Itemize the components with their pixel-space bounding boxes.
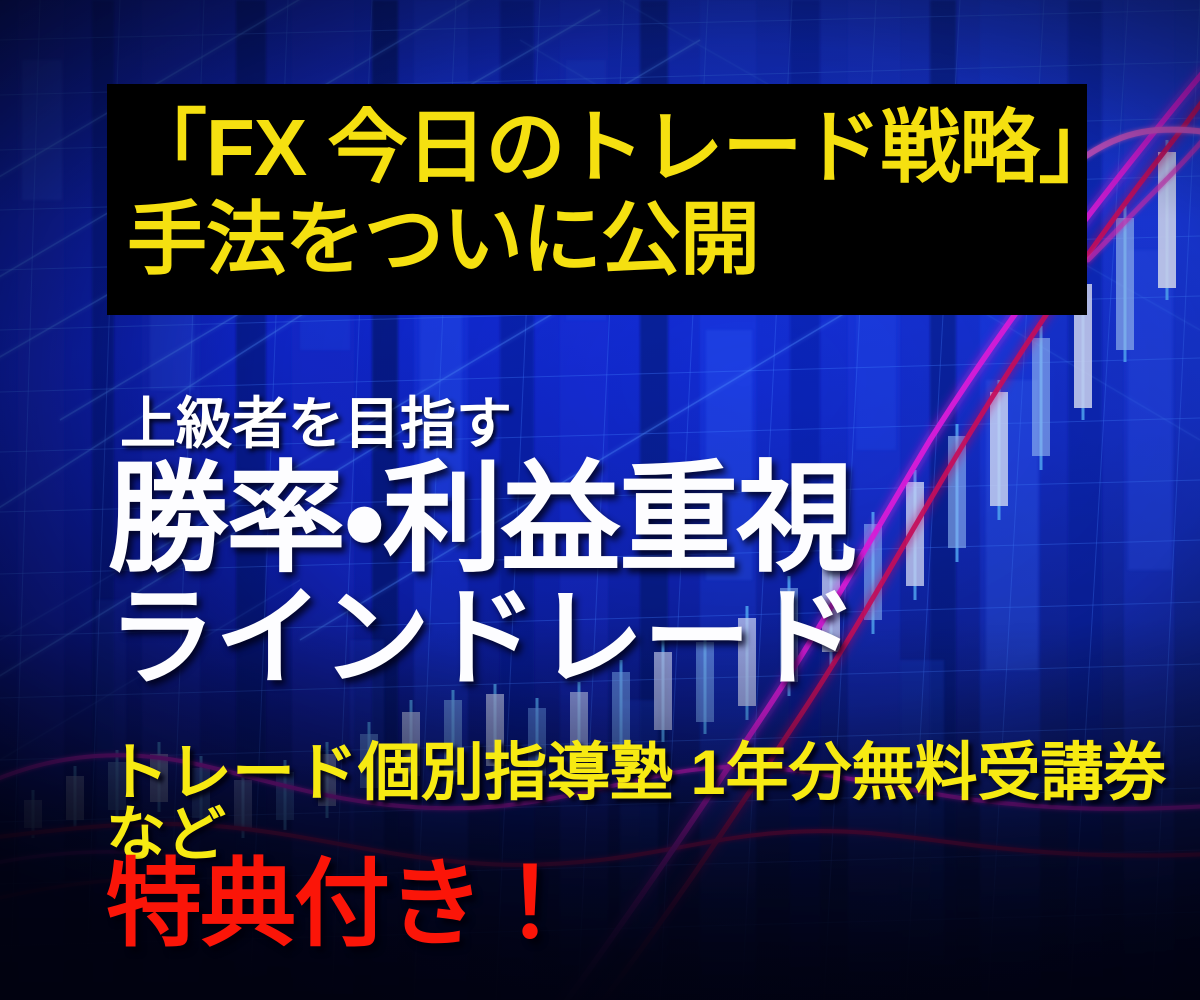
banner-root: 「FX 今日のトレード戦略」 手法をついに公開 上級者を目指す 勝率・利益重視 … xyxy=(0,0,1200,1000)
headline-line-2: 手法をついに公開 xyxy=(127,200,759,280)
headline-box: 「FX 今日のトレード戦略」 手法をついに公開 xyxy=(107,84,1087,315)
subhead-main-line-2: ラインドレード xyxy=(108,584,857,692)
headline-line-1: 「FX 今日のトレード戦略」 xyxy=(127,108,1117,188)
bonus-line-1: トレード個別指導塾 1年分無料受講券 xyxy=(106,742,1167,805)
subhead-lead: 上級者を目指す xyxy=(120,396,512,452)
banner-content: 「FX 今日のトレード戦略」 手法をついに公開 上級者を目指す 勝率・利益重視 … xyxy=(0,0,1200,1000)
bonus-highlight: 特典付き！ xyxy=(106,857,576,953)
subhead-main-line-1: 勝率・利益重視 xyxy=(108,459,855,579)
